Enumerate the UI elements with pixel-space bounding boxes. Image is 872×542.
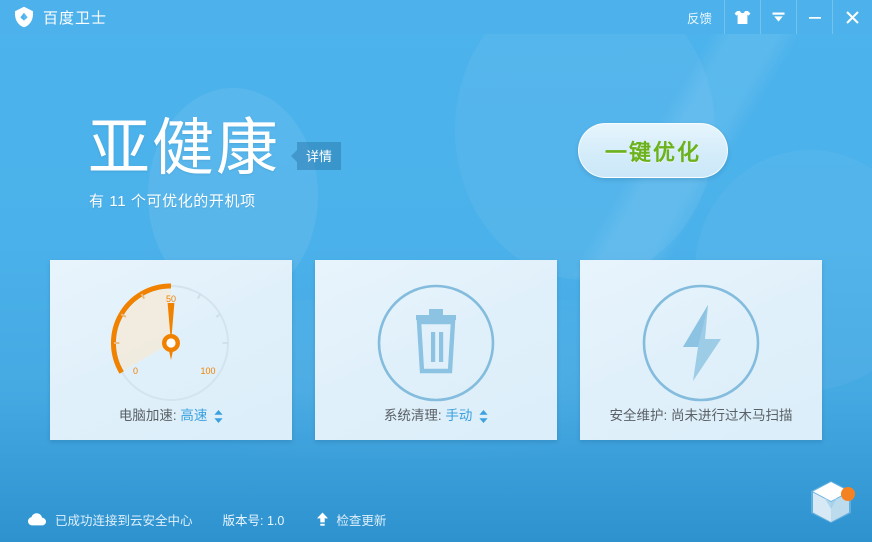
card-label-value[interactable]: 高速: [180, 408, 207, 423]
card-label-prefix: 系统清理:: [384, 408, 442, 423]
shirt-skin-icon: [734, 10, 751, 25]
details-badge[interactable]: 详情: [297, 142, 341, 170]
cloud-status-text: 已成功连接到云安全中心: [55, 510, 193, 529]
stepper-icon[interactable]: [214, 410, 223, 423]
svg-text:50: 50: [166, 294, 176, 304]
speedometer-gauge-icon: 50 0 100: [105, 277, 237, 409]
svg-text:100: 100: [200, 366, 215, 376]
card-label-system-cleanup: 系统清理: 手动: [315, 404, 557, 424]
card-label-value: 尚未进行过木马扫描: [671, 408, 793, 423]
card-label-pc-acceleration: 电脑加速: 高速: [50, 404, 292, 424]
feedback-button[interactable]: 反馈: [675, 0, 724, 34]
card-label-prefix: 安全维护:: [609, 408, 667, 423]
card-label-value[interactable]: 手动: [445, 408, 472, 423]
baidu-shield-cube-icon: [14, 6, 34, 28]
hero-subtitle: 有 11 个可优化的开机项: [89, 190, 256, 211]
one-click-optimize-label: 一键优化: [605, 135, 701, 167]
cube-logo-icon[interactable]: [804, 476, 858, 530]
window-title: 百度卫士: [43, 7, 107, 28]
svg-text:0: 0: [133, 366, 138, 376]
chevron-down-icon: [771, 11, 786, 23]
menu-button[interactable]: [760, 0, 796, 34]
title-bar-controls: 反馈: [675, 0, 872, 34]
version-text: 版本号: 1.0: [223, 510, 285, 529]
status-bar: 已成功连接到云安全中心 版本号: 1.0 检查更新: [0, 496, 872, 542]
minimize-icon: [808, 11, 822, 23]
cloud-icon: [28, 513, 47, 526]
minimize-button[interactable]: [796, 0, 832, 34]
close-button[interactable]: [832, 0, 872, 34]
check-update-button[interactable]: 检查更新: [316, 510, 386, 529]
skin-button[interactable]: [724, 0, 760, 34]
check-update-text: 检查更新: [336, 510, 386, 529]
one-click-optimize-button[interactable]: 一键优化: [578, 123, 728, 178]
hero-section: 亚健康 详情 有 11 个可优化的开机项 一键优化: [0, 34, 872, 259]
card-system-cleanup[interactable]: 系统清理: 手动: [315, 260, 557, 440]
card-label-prefix: 电脑加速:: [119, 408, 177, 423]
close-icon: [845, 10, 860, 25]
stepper-icon[interactable]: [479, 410, 488, 423]
hero-title-row: 亚健康 详情: [88, 118, 341, 180]
cloud-status: 已成功连接到云安全中心: [28, 510, 193, 529]
upload-arrow-icon: [316, 512, 329, 526]
trash-can-icon: [370, 277, 502, 409]
page-title: 亚健康: [88, 118, 280, 180]
card-label-security-maintenance: 安全维护: 尚未进行过木马扫描: [580, 404, 822, 424]
app-window: 百度卫士 反馈: [0, 0, 872, 542]
card-security-maintenance[interactable]: 安全维护: 尚未进行过木马扫描: [580, 260, 822, 440]
title-bar: 百度卫士 反馈: [0, 0, 872, 34]
lightning-bolt-icon: [635, 277, 767, 409]
card-pc-acceleration[interactable]: 50 0 100 电脑加速: 高速: [50, 260, 292, 440]
feature-cards: 50 0 100 电脑加速: 高速: [0, 260, 872, 440]
